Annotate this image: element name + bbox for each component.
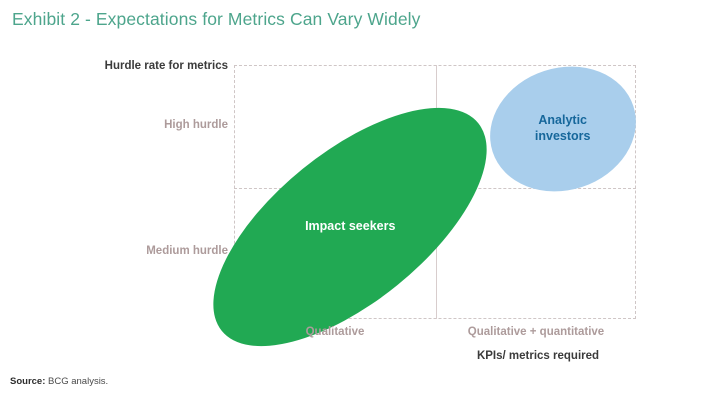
page-title: Exhibit 2 - Expectations for Metrics Can… bbox=[12, 9, 421, 30]
x-axis-tick-qualitative-quantitative: Qualitative + quantitative bbox=[436, 326, 636, 338]
y-axis-tick-high-hurdle: High hurdle bbox=[0, 119, 228, 131]
bubble-analytic-investors-line1: Analytic bbox=[539, 113, 588, 127]
gridline-vertical-right bbox=[635, 65, 636, 319]
bubble-analytic-investors-label: Analytic investors bbox=[535, 113, 591, 144]
y-axis-tick-medium-hurdle: Medium hurdle bbox=[0, 245, 228, 257]
chart-plot-area: True believers Analytic investors Impact… bbox=[234, 65, 636, 319]
source-text: BCG analysis. bbox=[45, 376, 108, 387]
slide-canvas: Exhibit 2 - Expectations for Metrics Can… bbox=[0, 0, 728, 408]
source-label: Source: bbox=[10, 376, 45, 387]
bubble-impact-seekers[interactable]: Impact seekers bbox=[175, 65, 526, 389]
bubble-analytic-investors-line2: investors bbox=[535, 129, 591, 143]
source-note: Source: BCG analysis. bbox=[10, 376, 108, 387]
y-axis-title-container: Hurdle rate for metrics bbox=[0, 60, 228, 76]
bubble-analytic-investors[interactable]: Analytic investors bbox=[474, 48, 652, 210]
x-axis-tick-qualitative: Qualitative bbox=[234, 326, 436, 338]
y-axis-title: Hurdle rate for metrics bbox=[105, 60, 228, 72]
x-axis-title: KPIs/ metrics required bbox=[436, 350, 640, 362]
bubble-impact-seekers-label: Impact seekers bbox=[305, 219, 395, 235]
